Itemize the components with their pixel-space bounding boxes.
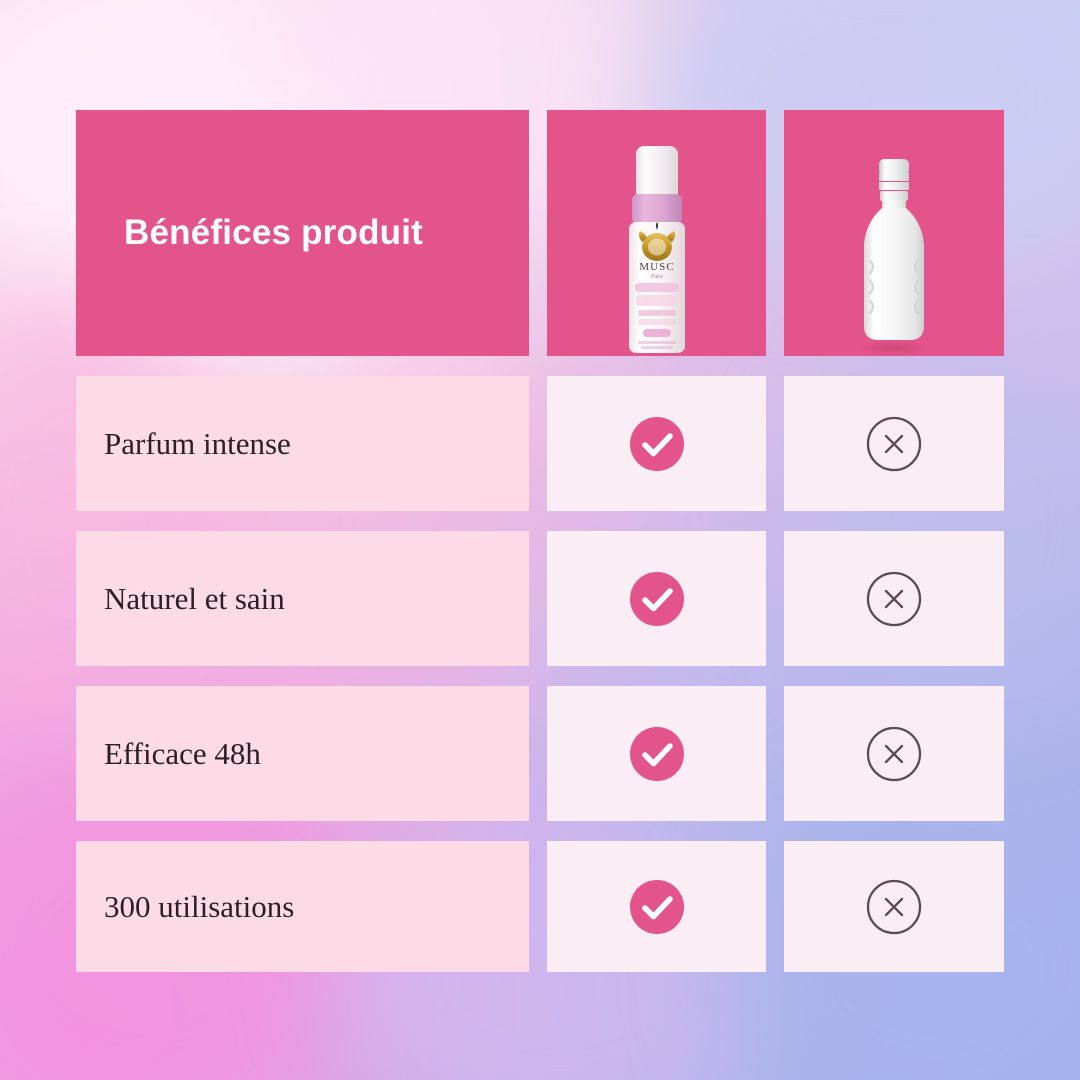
table-row: Parfum intense — [76, 376, 529, 511]
cell-competitor-product — [784, 841, 1004, 972]
check-circle-filled-icon — [629, 416, 685, 472]
cross-circle-outline-icon — [865, 725, 923, 783]
cross-circle-outline-icon — [865, 415, 923, 473]
page-title: Bénéfices produit — [76, 213, 423, 253]
row-label: Parfum intense — [76, 426, 291, 462]
plain-white-bottle-icon — [842, 156, 946, 356]
cross-circle-outline-icon — [865, 570, 923, 628]
row-label: Naturel et sain — [76, 581, 285, 617]
comparison-table: Bénéfices produit — [76, 110, 1004, 972]
cross-circle-outline-icon — [865, 878, 923, 936]
cell-our-product — [547, 376, 766, 511]
poster-canvas: Bénéfices produit — [0, 0, 1080, 1080]
check-circle-filled-icon — [629, 879, 685, 935]
check-circle-filled-icon — [629, 571, 685, 627]
musc-foam-bottle-icon: MUSC Paris — [602, 144, 712, 356]
cell-our-product — [547, 841, 766, 972]
table-header-title-cell: Bénéfices produit — [76, 110, 529, 356]
table-row: Efficace 48h — [76, 686, 529, 821]
row-label: Efficace 48h — [76, 736, 261, 772]
svg-text:MUSC: MUSC — [639, 261, 675, 273]
header-cell-our-product: MUSC Paris — [547, 110, 766, 356]
header-cell-competitor-product — [784, 110, 1004, 356]
svg-text:Paris: Paris — [651, 274, 664, 280]
table-row: 300 utilisations — [76, 841, 529, 972]
table-row: Naturel et sain — [76, 531, 529, 666]
check-circle-filled-icon — [629, 726, 685, 782]
cell-competitor-product — [784, 686, 1004, 821]
cell-our-product — [547, 686, 766, 821]
row-label: 300 utilisations — [76, 889, 294, 925]
cell-competitor-product — [784, 376, 1004, 511]
cell-our-product — [547, 531, 766, 666]
cell-competitor-product — [784, 531, 1004, 666]
